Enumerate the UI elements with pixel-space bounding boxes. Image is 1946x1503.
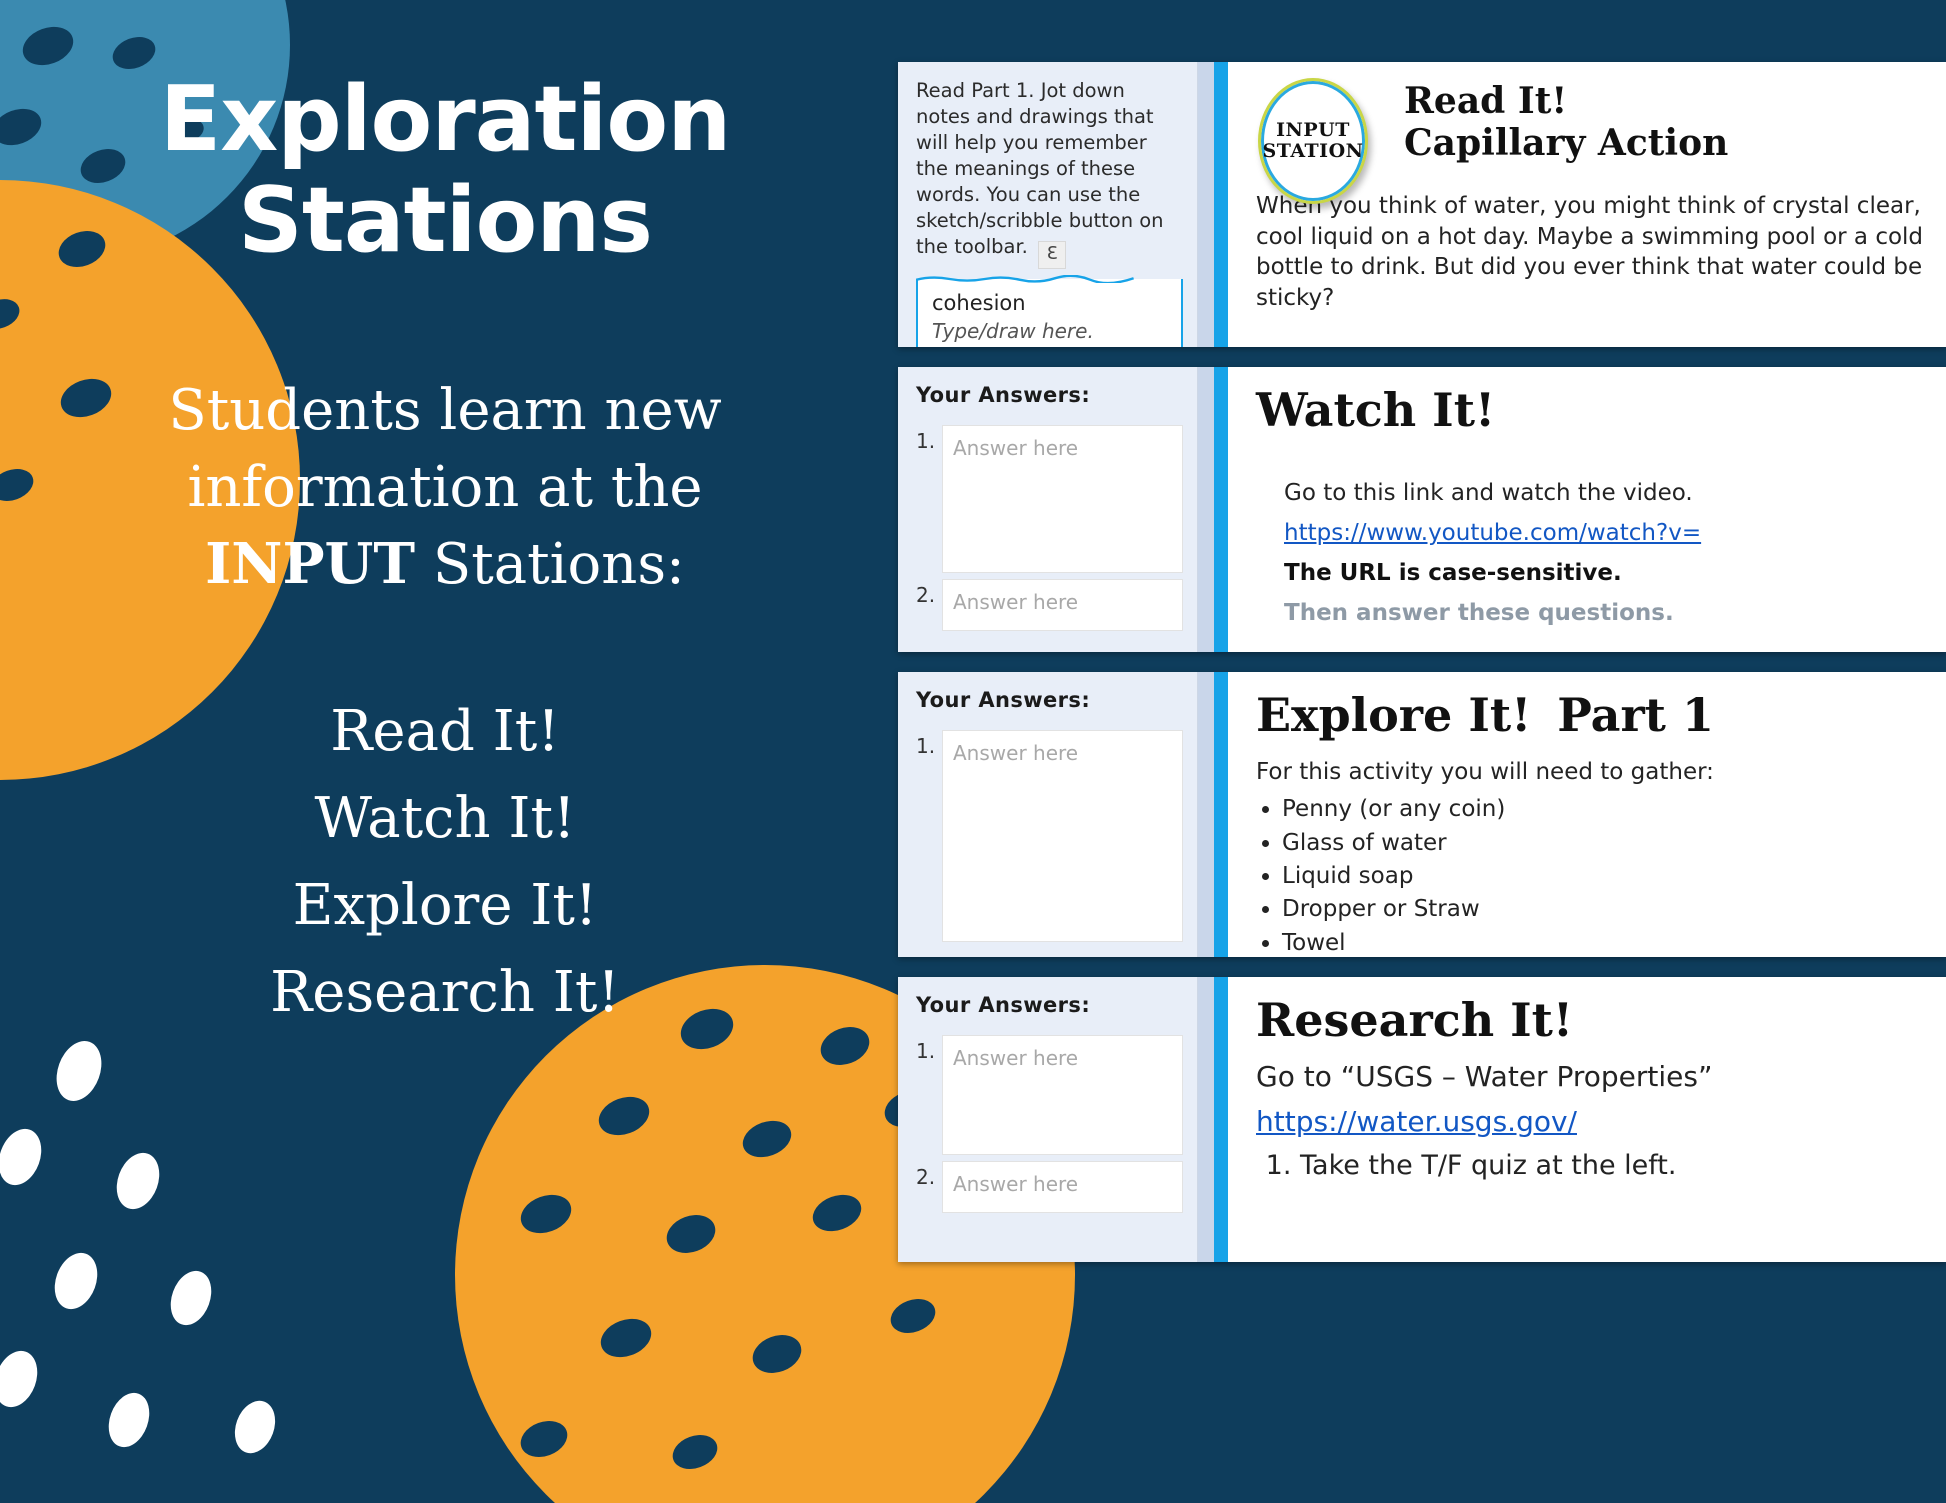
- station-card-column: Read Part 1. Jot down notes and drawings…: [898, 62, 1946, 1282]
- answer-input[interactable]: Answer here: [942, 1035, 1183, 1155]
- explore-it-intro: For this activity you will need to gathe…: [1256, 757, 1926, 788]
- research-step-item: Take the T/F quiz at the left.: [1300, 1148, 1926, 1183]
- pane-divider: [1198, 672, 1214, 957]
- title-line-1: Exploration: [160, 67, 731, 172]
- card-heading: Watch It!: [1256, 385, 1926, 436]
- card-heading: Explore It!: [1256, 690, 1531, 741]
- page-title: Exploration Stations: [125, 70, 765, 272]
- answer-number: 1.: [916, 1035, 942, 1063]
- answer-row: 1. Answer here: [916, 730, 1183, 942]
- materials-list-item: Towel: [1282, 927, 1926, 957]
- answer-row: 2. Answer here: [916, 1161, 1183, 1213]
- answer-input[interactable]: Answer here: [942, 579, 1183, 631]
- pane-divider: [1198, 977, 1214, 1262]
- badge-line-2: STATION: [1263, 141, 1364, 162]
- answer-placeholder: Answer here: [943, 1162, 1182, 1208]
- station-card-watch-it[interactable]: Your Answers: 1. Answer here 2. Answer h…: [898, 367, 1946, 652]
- video-link[interactable]: https://www.youtube.com/watch?v=: [1284, 520, 1701, 546]
- pane-divider: [1198, 367, 1214, 652]
- answer-input[interactable]: Answer here: [942, 730, 1183, 942]
- research-it-content: Research It! Go to “USGS – Water Propert…: [1214, 977, 1946, 1262]
- station-card-explore-it[interactable]: Your Answers: 1. Answer here Explore It!…: [898, 672, 1946, 957]
- starburst-icon: INPUT STATION: [1258, 78, 1368, 204]
- research-it-intro: Go to “USGS – Water Properties”: [1256, 1058, 1926, 1095]
- materials-list: Penny (or any coin) Glass of water Liqui…: [1256, 793, 1926, 957]
- answers-pane: Your Answers: 1. Answer here 2. Answer h…: [898, 977, 1198, 1262]
- answer-placeholder: Answer here: [943, 580, 1182, 626]
- research-steps-list: Take the T/F quiz at the left.: [1256, 1148, 1926, 1183]
- read-it-content: INPUT STATION Read It! Capillary Action …: [1214, 62, 1946, 347]
- materials-list-item: Liquid soap: [1282, 860, 1926, 893]
- answer-number: 2.: [916, 579, 942, 607]
- station-list-item: Watch It!: [115, 776, 775, 863]
- vocabulary-input-placeholder[interactable]: Type/draw here.: [932, 319, 1167, 343]
- card-heading-line-1: Read It!: [1404, 80, 1728, 122]
- notes-instructions: Read Part 1. Jot down notes and drawings…: [916, 78, 1183, 269]
- explore-it-content: Explore It! Part 1 For this activity you…: [1214, 672, 1946, 957]
- answer-number: 2.: [916, 1161, 942, 1189]
- answer-row: 2. Answer here: [916, 579, 1183, 631]
- title-line-2: Stations: [238, 168, 652, 273]
- answer-placeholder: Answer here: [943, 731, 1182, 777]
- answers-label: Your Answers:: [916, 383, 1183, 407]
- slide-canvas: Exploration Stations Students learn new …: [0, 0, 1946, 1503]
- station-card-research-it[interactable]: Your Answers: 1. Answer here 2. Answer h…: [898, 977, 1946, 1262]
- research-link[interactable]: https://water.usgs.gov/: [1256, 1105, 1577, 1138]
- subtitle-emphasis: INPUT: [205, 531, 415, 597]
- url-case-note: The URL is case-sensitive.: [1284, 560, 1926, 586]
- input-station-badge: INPUT STATION: [1258, 78, 1362, 198]
- subtitle: Students learn new information at the IN…: [115, 372, 775, 604]
- answer-row: 1. Answer here: [916, 425, 1183, 573]
- vocabulary-word: cohesion: [932, 291, 1167, 315]
- answer-number: 1.: [916, 425, 942, 453]
- subtitle-part-1: Students learn new information at the: [168, 378, 721, 520]
- station-list-item: Read It!: [115, 689, 775, 776]
- vocabulary-card[interactable]: cohesion Type/draw here.: [916, 279, 1183, 347]
- watch-it-intro: Go to this link and watch the video.: [1284, 478, 1926, 509]
- slide-text-column: Exploration Stations Students learn new …: [0, 0, 890, 1503]
- answer-placeholder: Answer here: [943, 1036, 1182, 1082]
- wavy-edge-icon: [916, 275, 1134, 283]
- materials-list-item: Glass of water: [1282, 827, 1926, 860]
- station-card-read-it[interactable]: Read Part 1. Jot down notes and drawings…: [898, 62, 1946, 347]
- answer-input[interactable]: Answer here: [942, 425, 1183, 573]
- read-it-body: When you think of water, you might think…: [1256, 191, 1926, 313]
- notes-pane: Read Part 1. Jot down notes and drawings…: [898, 62, 1198, 347]
- answers-pane: Your Answers: 1. Answer here 2. Answer h…: [898, 367, 1198, 652]
- answer-number: 1.: [916, 730, 942, 758]
- answer-placeholder: Answer here: [943, 426, 1182, 472]
- station-list: Read It! Watch It! Explore It! Research …: [115, 689, 775, 1036]
- watch-it-content: Watch It! Go to this link and watch the …: [1214, 367, 1946, 652]
- station-list-item: Research It!: [115, 950, 775, 1037]
- materials-list-item: Penny (or any coin): [1282, 793, 1926, 826]
- badge-line-1: INPUT: [1276, 120, 1350, 141]
- pane-divider: [1198, 62, 1214, 347]
- answer-row: 1. Answer here: [916, 1035, 1183, 1155]
- answer-input[interactable]: Answer here: [942, 1161, 1183, 1213]
- scribble-icon[interactable]: ℇ: [1038, 241, 1066, 269]
- watch-it-follow-up: Then answer these questions.: [1284, 600, 1926, 626]
- notes-instruction-text: Read Part 1. Jot down notes and drawings…: [916, 79, 1164, 258]
- station-list-item: Explore It!: [115, 863, 775, 950]
- answers-label: Your Answers:: [916, 688, 1183, 712]
- answers-pane: Your Answers: 1. Answer here: [898, 672, 1198, 957]
- materials-list-item: Dropper or Straw: [1282, 893, 1926, 926]
- card-heading: Research It!: [1256, 995, 1926, 1046]
- answers-label: Your Answers:: [916, 993, 1183, 1017]
- card-heading-line-2: Capillary Action: [1404, 122, 1728, 164]
- card-heading-part: Part 1: [1557, 690, 1714, 741]
- subtitle-part-2: Stations:: [415, 532, 685, 597]
